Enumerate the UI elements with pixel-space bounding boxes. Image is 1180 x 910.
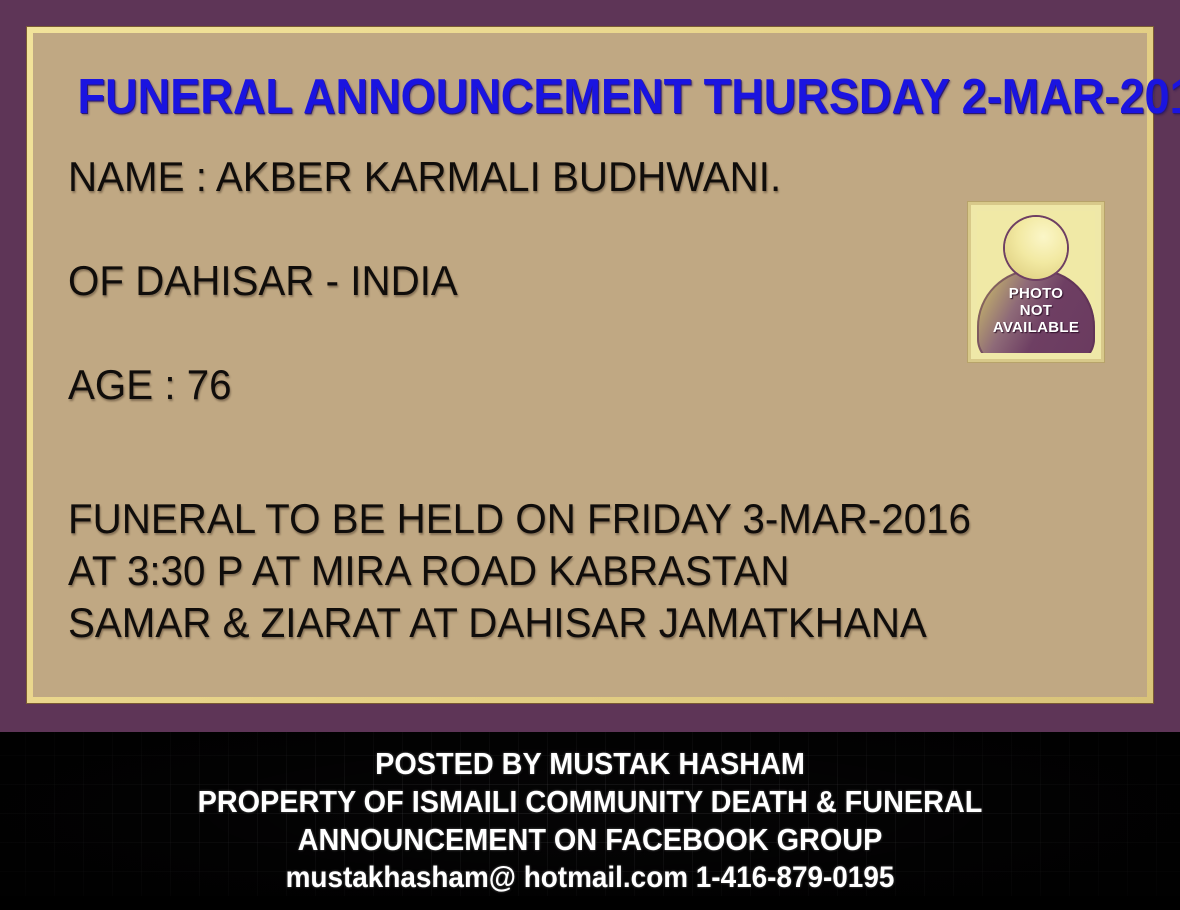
origin-line: OF DAHISAR - INDIA xyxy=(68,255,932,307)
photo-not-available-caption: PHOTO NOT AVAILABLE xyxy=(977,285,1095,336)
body-spacer-4 xyxy=(68,463,932,493)
photo-placeholder-inner: PHOTO NOT AVAILABLE xyxy=(977,211,1095,353)
funeral-announcement-poster: FUNERAL ANNOUNCEMENT THURSDAY 2-MAR-2017… xyxy=(0,0,1180,910)
funeral-date-line: FUNERAL TO BE HELD ON FRIDAY 3-MAR-2016 xyxy=(68,493,932,545)
age-line: AGE : 76 xyxy=(68,359,932,411)
photo-placeholder: PHOTO NOT AVAILABLE xyxy=(968,202,1104,362)
footer-credit-text: POSTED BY MUSTAK HASHAM PROPERTY OF ISMA… xyxy=(0,745,1180,897)
name-line: NAME : AKBER KARMALI BUDHWANI. xyxy=(68,151,932,203)
funeral-place-line: AT 3:30 P AT MIRA ROAD KABRASTAN xyxy=(68,545,932,597)
photo-caption-line-3: AVAILABLE xyxy=(977,319,1095,336)
avatar-silhouette-head-icon xyxy=(1005,217,1067,279)
body-spacer-1 xyxy=(68,203,932,255)
footer-bottom-bar xyxy=(0,896,1180,910)
samar-ziarat-line: SAMAR & ZIARAT AT DAHISAR JAMATKHANA xyxy=(68,597,932,649)
footer-line-posted-by: POSTED BY MUSTAK HASHAM xyxy=(41,745,1138,783)
poster-frame: FUNERAL ANNOUNCEMENT THURSDAY 2-MAR-2017… xyxy=(0,0,1180,732)
page-title: FUNERAL ANNOUNCEMENT THURSDAY 2-MAR-2017 xyxy=(78,73,1103,122)
photo-caption-line-2: NOT xyxy=(977,302,1095,319)
photo-caption-line-1: PHOTO xyxy=(977,285,1095,302)
footer-line-group: ANNOUNCEMENT ON FACEBOOK GROUP xyxy=(41,821,1138,859)
footer-line-contact: mustakhasham@ hotmail.com 1-416-879-0195 xyxy=(41,859,1138,897)
announcement-card: FUNERAL ANNOUNCEMENT THURSDAY 2-MAR-2017… xyxy=(33,33,1147,697)
poster-footer: POSTED BY MUSTAK HASHAM PROPERTY OF ISMA… xyxy=(0,732,1180,910)
body-spacer-2 xyxy=(68,307,932,359)
body-spacer-3 xyxy=(68,411,932,463)
announcement-body: NAME : AKBER KARMALI BUDHWANI. OF DAHISA… xyxy=(68,151,968,649)
footer-line-property: PROPERTY OF ISMAILI COMMUNITY DEATH & FU… xyxy=(41,783,1138,821)
